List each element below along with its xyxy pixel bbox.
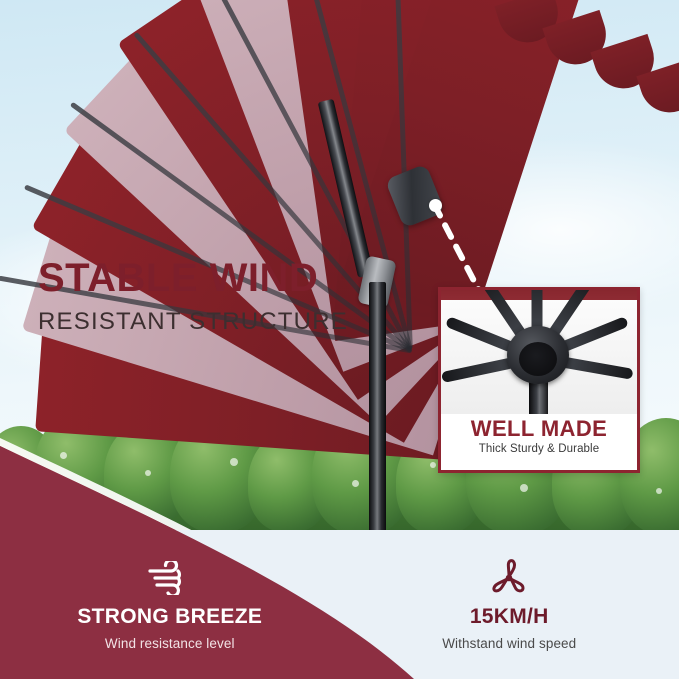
feature-panels: STRONG BREEZE Wind resistance level 15KM… xyxy=(0,530,679,679)
feature-title: 15KM/H xyxy=(470,606,549,627)
fan-propeller-icon xyxy=(489,558,529,598)
headline-block: STABLE WIND RESISTANT STRUCTURE xyxy=(38,258,348,334)
inset-product-photo xyxy=(441,290,637,414)
marketing-image: WELL MADE Thick Sturdy & Durable STABLE … xyxy=(0,0,679,679)
feature-wind-resistance: STRONG BREEZE Wind resistance level xyxy=(0,530,340,679)
page-subtitle: RESISTANT STRUCTURE xyxy=(38,310,348,334)
feature-subtitle: Wind resistance level xyxy=(105,636,235,651)
feature-subtitle: Withstand wind speed xyxy=(442,636,576,651)
inset-title: WELL MADE xyxy=(441,417,637,441)
wind-icon xyxy=(147,558,193,598)
feature-wind-speed: 15KM/H Withstand wind speed xyxy=(340,530,679,679)
page-title: STABLE WIND xyxy=(38,258,348,298)
inset-caption: WELL MADE Thick Sturdy & Durable xyxy=(441,414,637,470)
inset-callout-card: WELL MADE Thick Sturdy & Durable xyxy=(438,287,640,473)
inset-subtitle: Thick Sturdy & Durable xyxy=(441,443,637,455)
feature-title: STRONG BREEZE xyxy=(77,606,262,627)
inset-hub-ring xyxy=(519,342,557,376)
